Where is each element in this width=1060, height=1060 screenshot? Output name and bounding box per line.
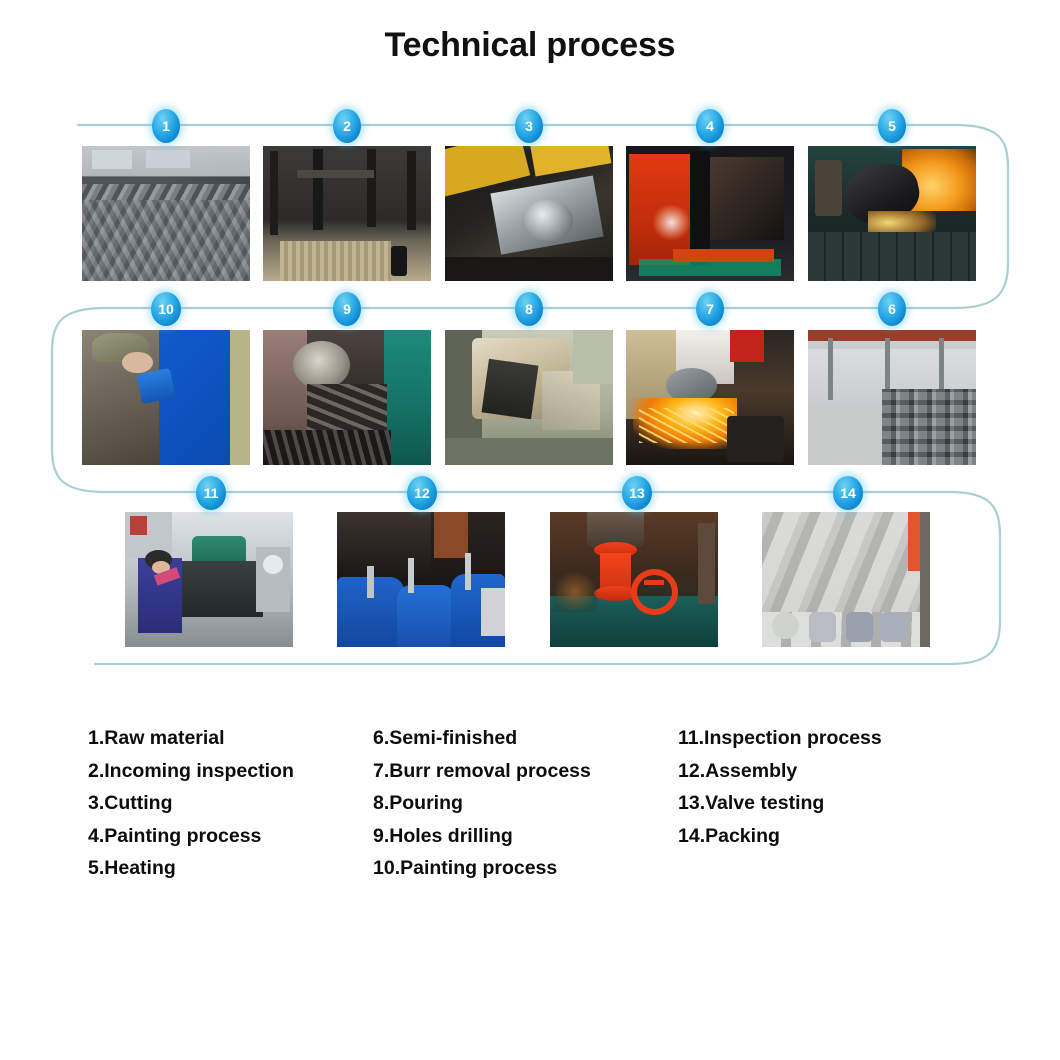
legend-item-2: 2.Incoming inspection xyxy=(88,755,373,788)
step-badge-11[interactable]: 11 xyxy=(196,476,226,510)
step-badge-2[interactable]: 2 xyxy=(333,109,361,143)
legend-column-1: 1.Raw material 2.Incoming inspection 3.C… xyxy=(88,722,373,885)
process-photo-2 xyxy=(263,146,431,281)
step-badge-7[interactable]: 7 xyxy=(696,292,724,326)
process-photo-12 xyxy=(337,512,505,647)
legend-item-7: 7.Burr removal process xyxy=(373,755,678,788)
legend-column-3: 11.Inspection process 12.Assembly 13.Val… xyxy=(678,722,978,885)
step-badge-6[interactable]: 6 xyxy=(878,292,906,326)
step-badge-5[interactable]: 5 xyxy=(878,109,906,143)
process-photo-8 xyxy=(445,330,613,465)
process-photo-1 xyxy=(82,146,250,281)
process-photo-13 xyxy=(550,512,718,647)
legend-item-3: 3.Cutting xyxy=(88,787,373,820)
process-photo-14 xyxy=(762,512,930,647)
legend-column-2: 6.Semi-finished 7.Burr removal process 8… xyxy=(373,722,678,885)
process-legend: 1.Raw material 2.Incoming inspection 3.C… xyxy=(88,722,1008,885)
step-badge-13[interactable]: 13 xyxy=(622,476,652,510)
process-photo-5 xyxy=(808,146,976,281)
process-photo-11 xyxy=(125,512,293,647)
legend-item-10: 10.Painting process xyxy=(373,852,678,885)
step-badge-9[interactable]: 9 xyxy=(333,292,361,326)
legend-item-9: 9.Holes drilling xyxy=(373,820,678,853)
process-photo-3 xyxy=(445,146,613,281)
step-badge-12[interactable]: 12 xyxy=(407,476,437,510)
step-badge-10[interactable]: 10 xyxy=(151,292,181,326)
legend-item-1: 1.Raw material xyxy=(88,722,373,755)
process-photo-10 xyxy=(82,330,250,465)
legend-item-11: 11.Inspection process xyxy=(678,722,978,755)
process-photo-6 xyxy=(808,330,976,465)
legend-item-4: 4.Painting process xyxy=(88,820,373,853)
legend-item-12: 12.Assembly xyxy=(678,755,978,788)
legend-item-6: 6.Semi-finished xyxy=(373,722,678,755)
step-badge-1[interactable]: 1 xyxy=(152,109,180,143)
legend-item-13: 13.Valve testing xyxy=(678,787,978,820)
page-title: Technical process xyxy=(0,26,1060,65)
process-photo-7 xyxy=(626,330,794,465)
step-badge-4[interactable]: 4 xyxy=(696,109,724,143)
step-badge-14[interactable]: 14 xyxy=(833,476,863,510)
legend-item-5: 5.Heating xyxy=(88,852,373,885)
process-photo-4 xyxy=(626,146,794,281)
technical-process-infographic: Technical process xyxy=(0,0,1060,1060)
step-badge-3[interactable]: 3 xyxy=(515,109,543,143)
legend-item-14: 14.Packing xyxy=(678,820,978,853)
legend-item-8: 8.Pouring xyxy=(373,787,678,820)
process-photo-9 xyxy=(263,330,431,465)
step-badge-8[interactable]: 8 xyxy=(515,292,543,326)
